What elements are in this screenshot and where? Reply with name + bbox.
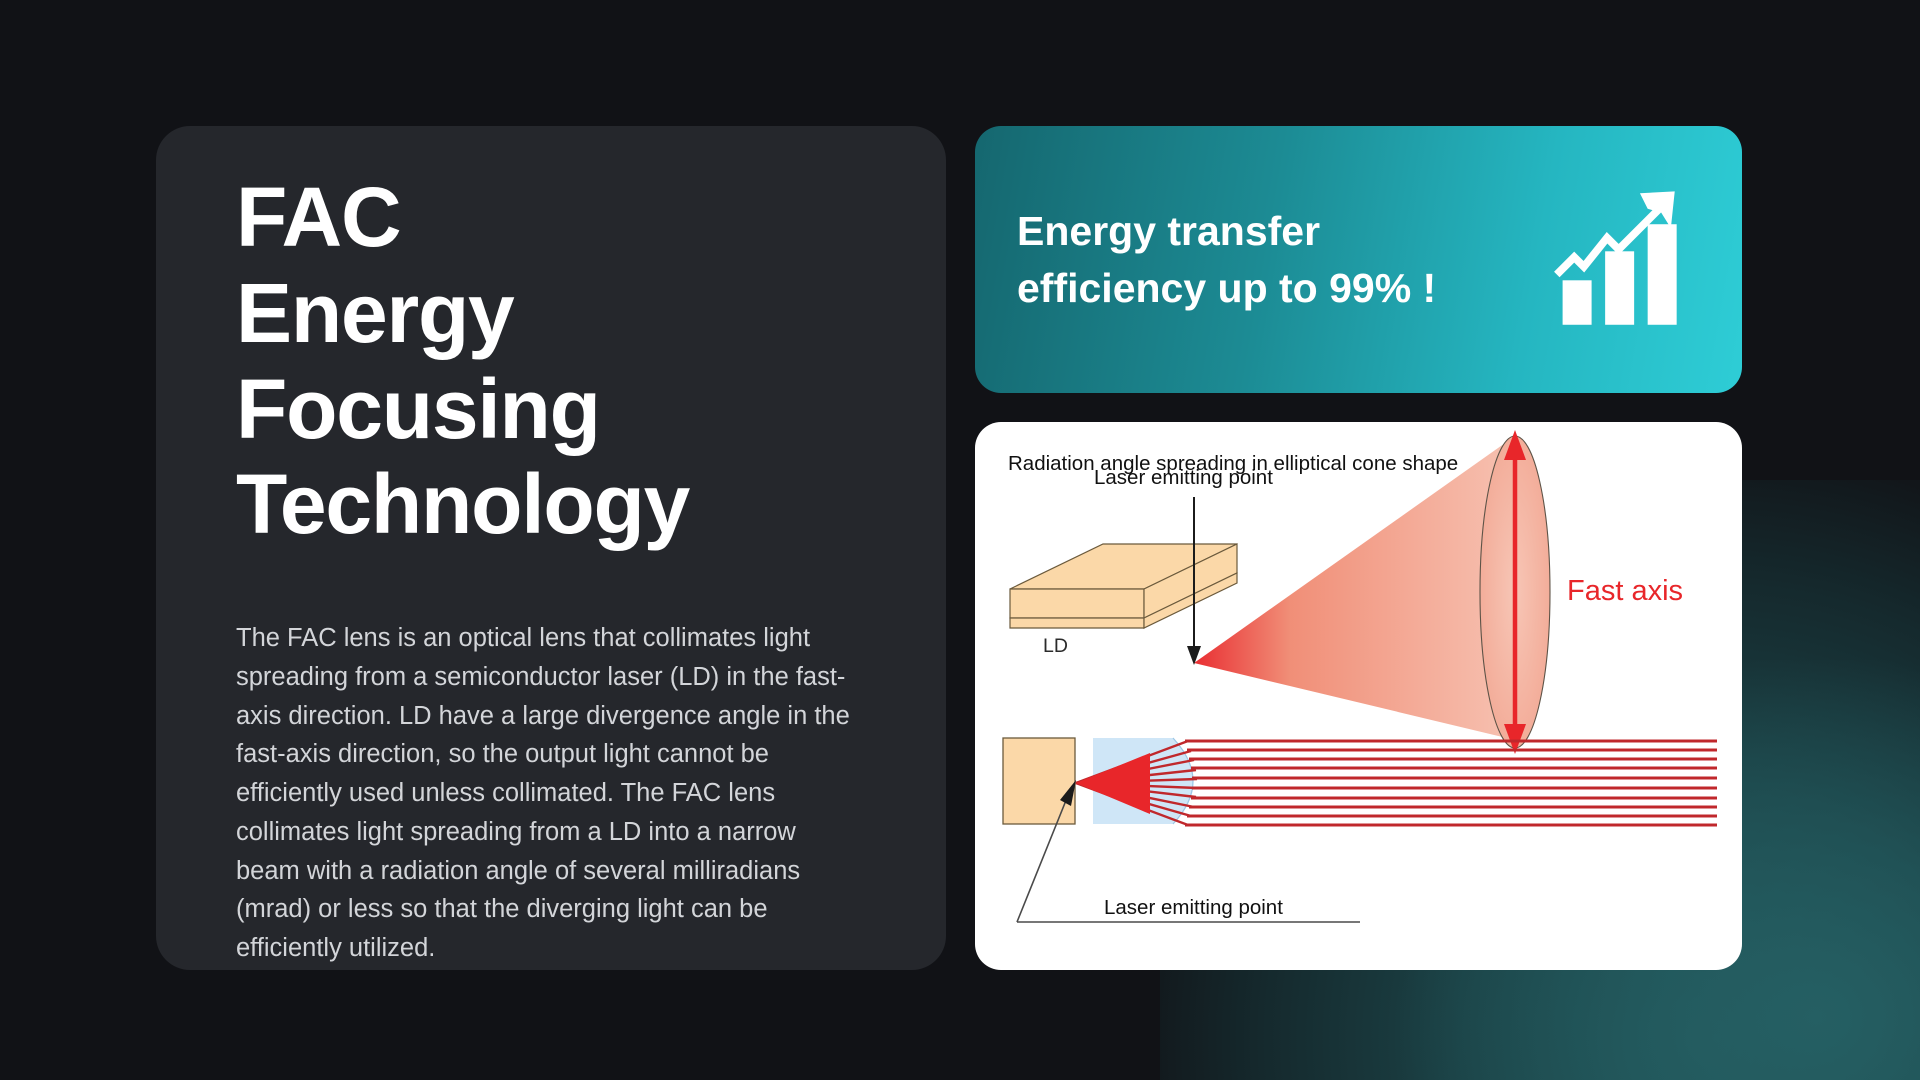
fac-diagram-card: Radiation angle spreading in elliptical … [975, 422, 1742, 970]
description-paragraph: The FAC lens is an optical lens that col… [236, 619, 861, 968]
intro-card-content: FAC Energy Focusing Technology The FAC l… [156, 126, 946, 968]
slide-stage: FAC Energy Focusing Technology The FAC l… [0, 0, 1920, 1080]
efficiency-headline: Energy transfer efficiency up to 99% ! [1017, 203, 1551, 316]
label-laser-emitting-point-top: Laser emitting point [1094, 466, 1273, 489]
label-laser-emitting-point-bottom: Laser emitting point [1104, 896, 1283, 919]
growth-chart-icon [1551, 185, 1696, 335]
efficiency-banner: Energy transfer efficiency up to 99% ! [975, 126, 1742, 393]
page-title: FAC Energy Focusing Technology [236, 170, 890, 553]
label-ld: LD [1043, 635, 1068, 657]
fac-diagram: Radiation angle spreading in elliptical … [975, 422, 1742, 970]
intro-card: FAC Energy Focusing Technology The FAC l… [156, 126, 946, 970]
label-fast-axis: Fast axis [1567, 575, 1683, 607]
